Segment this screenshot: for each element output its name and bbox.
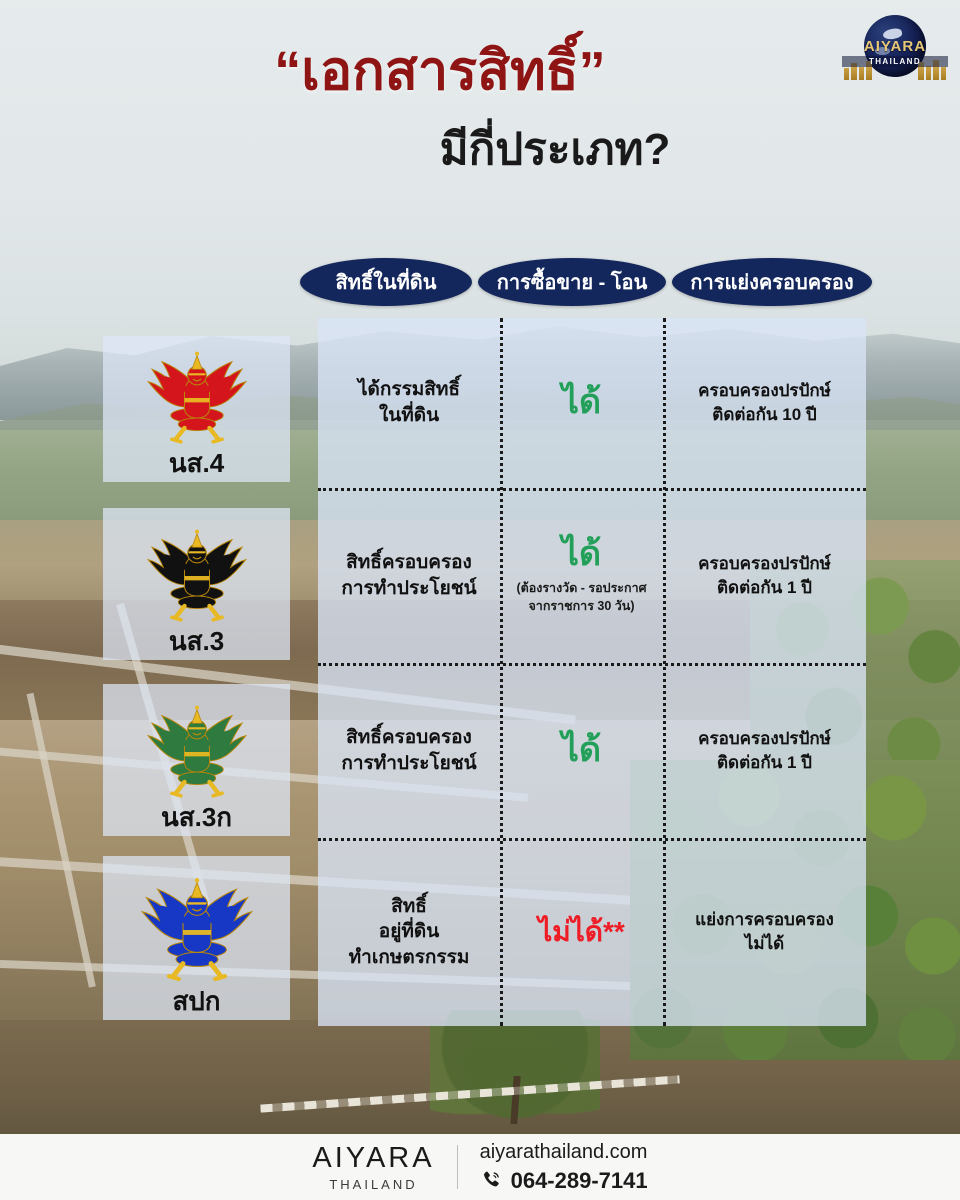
rights-text: สิทธิ์อยู่ที่ดินทำเกษตรกรรม xyxy=(349,894,470,971)
table-row: ได้กรรมสิทธิ์ในที่ดิน ได้ ครอบครองปรปักษ… xyxy=(318,318,866,488)
badge-label: นส.3 xyxy=(169,628,224,654)
footer-divider xyxy=(457,1145,458,1189)
table-row: สิทธิ์อยู่ที่ดินทำเกษตรกรรม ไม่ได้** แย่… xyxy=(318,838,866,1026)
comparison-table: ได้กรรมสิทธิ์ในที่ดิน ได้ ครอบครองปรปักษ… xyxy=(318,318,866,1026)
title-block: “เอกสารสิทธิ์” มีกี่ประเภท? xyxy=(0,40,960,177)
footer-phone-row[interactable]: 064-289-7141 xyxy=(480,1168,648,1193)
transfer-value: ได้ xyxy=(562,384,601,421)
transfer-note: (ต้องรางวัด - รอประกาศจากราชการ 30 วัน) xyxy=(516,579,646,615)
cell-transfer: ไม่ได้** xyxy=(500,838,663,1026)
cell-rights: สิทธิ์ครอบครองการทำประโยชน์ xyxy=(318,488,500,663)
occupation-text: ครอบครองปรปักษ์ติดต่อกัน 1 ปี xyxy=(698,727,831,775)
occupation-text: ครอบครองปรปักษ์ติดต่อกัน 1 ปี xyxy=(698,552,831,600)
badge-label: นส.3ก xyxy=(161,804,232,830)
column-header-pills: สิทธิ์ในที่ดิน การซื้อขาย - โอน การแย่งค… xyxy=(0,258,960,306)
badge-label: สปก xyxy=(172,988,220,1014)
transfer-value: ได้ xyxy=(562,732,601,769)
garuda-icon xyxy=(133,702,261,802)
pill-occupation[interactable]: การแย่งครอบครอง xyxy=(672,258,872,306)
footer-brand: AIYARA THAILAND xyxy=(312,1144,434,1191)
phone-icon xyxy=(480,1169,502,1191)
footer-contact: aiyarathailand.com 064-289-7141 xyxy=(480,1141,648,1193)
occupation-text: แย่งการครอบครองไม่ได้ xyxy=(695,908,834,956)
cell-rights: สิทธิ์ครอบครองการทำประโยชน์ xyxy=(318,663,500,838)
page-title: “เอกสารสิทธิ์” xyxy=(0,40,960,102)
pill-transfer[interactable]: การซื้อขาย - โอน xyxy=(478,258,666,306)
footer-brand-name: AIYARA xyxy=(312,1144,434,1173)
table-row: สิทธิ์ครอบครองการทำประโยชน์ ได้ ครอบครอง… xyxy=(318,663,866,838)
cell-occupation: ครอบครองปรปักษ์ติดต่อกัน 1 ปี xyxy=(663,663,866,838)
cell-occupation: ครอบครองปรปักษ์ติดต่อกัน 1 ปี xyxy=(663,488,866,663)
badge-tile: สปก xyxy=(103,856,290,1020)
page-subtitle: มีกี่ประเภท? xyxy=(0,124,960,177)
footer-website[interactable]: aiyarathailand.com xyxy=(480,1141,648,1164)
cell-transfer: ได้ (ต้องรางวัด - รอประกาศจากราชการ 30 ว… xyxy=(500,488,663,663)
occupation-text: ครอบครองปรปักษ์ติดต่อกัน 10 ปี xyxy=(698,379,831,427)
table-row: สิทธิ์ครอบครองการทำประโยชน์ ได้ (ต้องราง… xyxy=(318,488,866,663)
pill-rights[interactable]: สิทธิ์ในที่ดิน xyxy=(300,258,472,306)
footer-bar: AIYARA THAILAND aiyarathailand.com 064-2… xyxy=(0,1134,960,1200)
garuda-icon xyxy=(127,874,267,986)
cell-rights: ได้กรรมสิทธิ์ในที่ดิน xyxy=(318,318,500,488)
cell-transfer: ได้ xyxy=(500,663,663,838)
cell-rights: สิทธิ์อยู่ที่ดินทำเกษตรกรรม xyxy=(318,838,500,1026)
cell-occupation: แย่งการครอบครองไม่ได้ xyxy=(663,838,866,1026)
rights-text: สิทธิ์ครอบครองการทำประโยชน์ xyxy=(341,550,476,601)
rights-text: สิทธิ์ครอบครองการทำประโยชน์ xyxy=(341,725,476,776)
footer-phone-number: 064-289-7141 xyxy=(511,1168,648,1193)
transfer-value: ไม่ได้** xyxy=(538,917,625,948)
cell-occupation: ครอบครองปรปักษ์ติดต่อกัน 10 ปี xyxy=(663,318,866,488)
cell-transfer: ได้ xyxy=(500,318,663,488)
badge-tile: นส.3 xyxy=(103,508,290,660)
rights-text: ได้กรรมสิทธิ์ในที่ดิน xyxy=(358,377,460,428)
transfer-value: ได้ xyxy=(562,536,601,573)
garuda-icon xyxy=(133,526,261,626)
garuda-icon xyxy=(133,348,261,448)
footer-brand-sub: THAILAND xyxy=(312,1178,434,1191)
badge-tile: นส.4 xyxy=(103,336,290,482)
badge-tile: นส.3ก xyxy=(103,684,290,836)
badge-label: นส.4 xyxy=(169,450,224,476)
